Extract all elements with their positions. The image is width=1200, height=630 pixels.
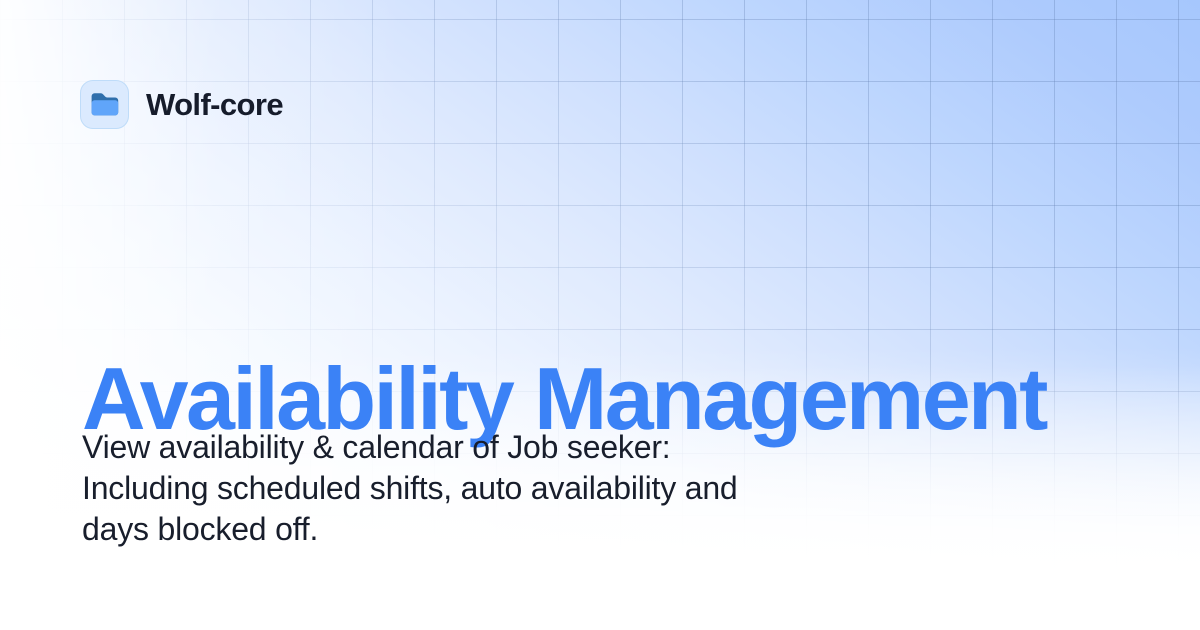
subtitle-line: View availability & calendar of Job seek… <box>82 427 738 468</box>
subtitle-line: days blocked off. <box>82 509 738 550</box>
brand-name: Wolf-core <box>146 89 283 120</box>
brand-lockup: Wolf-core <box>80 80 283 129</box>
page-subtitle: View availability & calendar of Job seek… <box>82 427 738 550</box>
banner-canvas: Wolf-core Availability Management View a… <box>0 0 1200 630</box>
banner-content: Wolf-core Availability Management View a… <box>0 0 1200 630</box>
subtitle-line: Including scheduled shifts, auto availab… <box>82 468 738 509</box>
brand-logo-badge <box>80 80 129 129</box>
folder-icon <box>90 92 120 118</box>
